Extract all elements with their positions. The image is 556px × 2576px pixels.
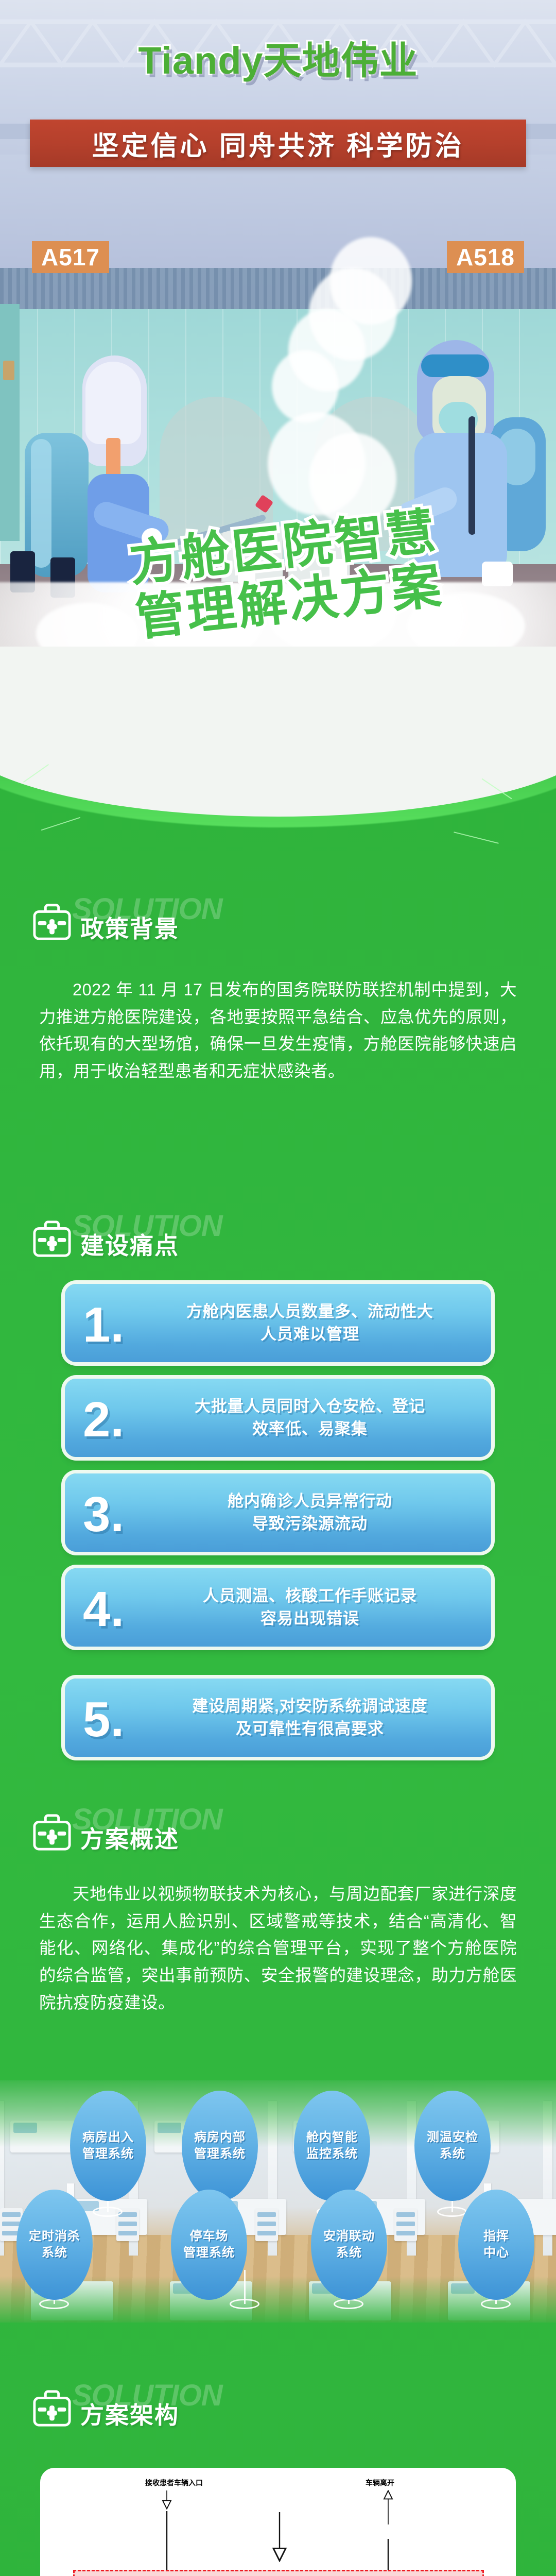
system-bubble-2[interactable]: 病房内部 管理系统 — [182, 2091, 258, 2201]
system-label-line1: 安消联动 — [323, 2229, 375, 2243]
pain-point-text: 大批量人员同时入仓安检、登记 效率低、易聚集 — [142, 1395, 491, 1440]
pain-point-number: 3. — [65, 1486, 142, 1539]
pain-point-line2: 及可靠性有很高要求 — [142, 1718, 478, 1740]
pain-point-text: 建设周期紧,对安防系统调试速度 及可靠性有很高要求 — [142, 1695, 491, 1740]
section-header-policy: SOLUTION 政策背景 — [32, 899, 392, 946]
system-bubble-4[interactable]: 测温安检 系统 — [414, 2091, 491, 2201]
system-label-line2: 系统 — [440, 2147, 465, 2161]
pain-point-text: 方舱内医患人员数量多、流动性大 人员难以管理 — [142, 1300, 491, 1346]
pain-point-line1: 人员测温、核酸工作手账记录 — [142, 1585, 478, 1607]
system-bubble-5[interactable]: 定时消杀 系统 — [16, 2190, 93, 2300]
bedside-cabinet — [394, 2208, 417, 2241]
section-title-overview: 方案概述 — [80, 1821, 179, 1855]
bedside-cabinet — [255, 2208, 278, 2241]
system-bubble-3[interactable]: 舱内智能 监控系统 — [294, 2091, 370, 2201]
pain-point-line1: 大批量人员同时入仓安检、登记 — [142, 1395, 478, 1418]
hero-illustration: Tiandy天地伟业 坚定信心 同舟共济 科学防治 A517 A518 方舱医院… — [0, 0, 556, 747]
pain-point-line2: 容易出现错误 — [142, 1607, 478, 1630]
system-label-line1: 病房出入 — [82, 2130, 134, 2144]
pain-point-card[interactable]: 5. 建设周期紧,对安防系统调试速度 及可靠性有很高要求 — [65, 1679, 491, 1757]
room-tag-a518: A518 — [447, 241, 524, 273]
pain-point-card[interactable]: 4. 人员测温、核酸工作手账记录 容易出现错误 — [65, 1568, 491, 1647]
pain-point-text: 舱内确诊人员异常行动 导致污染源流动 — [142, 1490, 491, 1535]
pain-point-line1: 舱内确诊人员异常行动 — [142, 1490, 478, 1513]
slogan-text: 坚定信心 同舟共济 科学防治 — [92, 124, 464, 163]
bubble-ring — [230, 2299, 259, 2309]
brand-logo: Tiandy天地伟业 — [0, 30, 556, 85]
section-header-architecture: SOLUTION 方案架构 — [32, 2385, 392, 2433]
medical-kit-icon — [32, 2387, 72, 2428]
bubble-ring — [93, 2207, 123, 2217]
section-title-painpoints: 建设痛点 — [80, 1227, 179, 1261]
policy-body-text: 2022 年 11 月 17 日发布的国务院联防联控机制中提到，大力推进方舱医院… — [39, 976, 517, 1085]
pain-point-card[interactable]: 1. 方舱内医患人员数量多、流动性大 人员难以管理 — [65, 1284, 491, 1362]
system-label-line2: 管理系统 — [183, 2246, 235, 2260]
zone-contaminated — [73, 2570, 484, 2576]
system-label-line2: 系统 — [42, 2246, 67, 2260]
medical-kit-icon — [32, 901, 72, 941]
fog-cloud — [329, 237, 412, 325]
pain-point-number: 5. — [65, 1691, 142, 1744]
system-bubble-7[interactable]: 安消联动 系统 — [311, 2190, 387, 2300]
system-label-line2: 系统 — [336, 2246, 362, 2260]
bubble-ring — [334, 2299, 363, 2309]
pain-point-line2: 效率低、易聚集 — [142, 1418, 478, 1440]
pain-point-line1: 建设周期紧,对安防系统调试速度 — [142, 1695, 478, 1718]
arc-divider — [0, 647, 556, 817]
bubble-ring — [481, 2299, 511, 2309]
system-label-line1: 舱内智能 — [306, 2130, 358, 2144]
section-title-policy: 政策背景 — [80, 910, 179, 944]
system-bubble-1[interactable]: 病房出入 管理系统 — [70, 2091, 146, 2201]
room-tag-a517: A517 — [32, 241, 109, 273]
system-label-line1: 病房内部 — [194, 2130, 246, 2144]
pain-point-card[interactable]: 3. 舱内确诊人员异常行动 导致污染源流动 — [65, 1473, 491, 1552]
system-label-line2: 中心 — [483, 2246, 509, 2260]
section-title-architecture: 方案架构 — [80, 2397, 179, 2431]
system-bubble-8[interactable]: 指挥 中心 — [458, 2190, 534, 2300]
system-bubble-6[interactable]: 停车场 管理系统 — [171, 2190, 247, 2300]
system-label-line1: 定时消杀 — [29, 2229, 80, 2243]
bubble-ring — [437, 2207, 467, 2217]
pain-point-number: 1. — [65, 1296, 142, 1350]
system-label-line2: 监控系统 — [306, 2147, 358, 2161]
system-label-line1: 测温安检 — [427, 2130, 478, 2144]
bubble-ring — [39, 2299, 69, 2309]
system-label-line2: 管理系统 — [82, 2147, 134, 2161]
system-label-line1: 指挥 — [483, 2229, 509, 2243]
pain-point-line2: 人员难以管理 — [142, 1323, 478, 1346]
system-label-line2: 管理系统 — [194, 2147, 246, 2161]
diagram-arrows — [40, 2468, 516, 2576]
section-header-painpoints: SOLUTION 建设痛点 — [32, 1216, 392, 1263]
section-header-overview: SOLUTION 方案概述 — [32, 1809, 392, 1857]
pain-point-number: 2. — [65, 1391, 142, 1445]
slogan-banner: 坚定信心 同舟共济 科学防治 — [30, 120, 526, 167]
system-label-line1: 停车场 — [190, 2229, 229, 2243]
overview-body-text: 天地伟业以视频物联技术为核心，与周边配套厂家进行深度生态合作，运用人脸识别、区域… — [39, 1880, 517, 2016]
pain-point-line1: 方舱内医患人员数量多、流动性大 — [142, 1300, 478, 1323]
medical-kit-icon — [32, 1218, 72, 1258]
pain-point-text: 人员测温、核酸工作手账记录 容易出现错误 — [142, 1585, 491, 1630]
pain-point-line2: 导致污染源流动 — [142, 1513, 478, 1535]
pain-point-card[interactable]: 2. 大批量人员同时入仓安检、登记 效率低、易聚集 — [65, 1379, 491, 1457]
medical-kit-icon — [32, 1811, 72, 1852]
architecture-diagram: 接收患者车辆入口 车辆离开 污染区 — [40, 2468, 516, 2576]
pain-point-number: 4. — [65, 1581, 142, 1634]
